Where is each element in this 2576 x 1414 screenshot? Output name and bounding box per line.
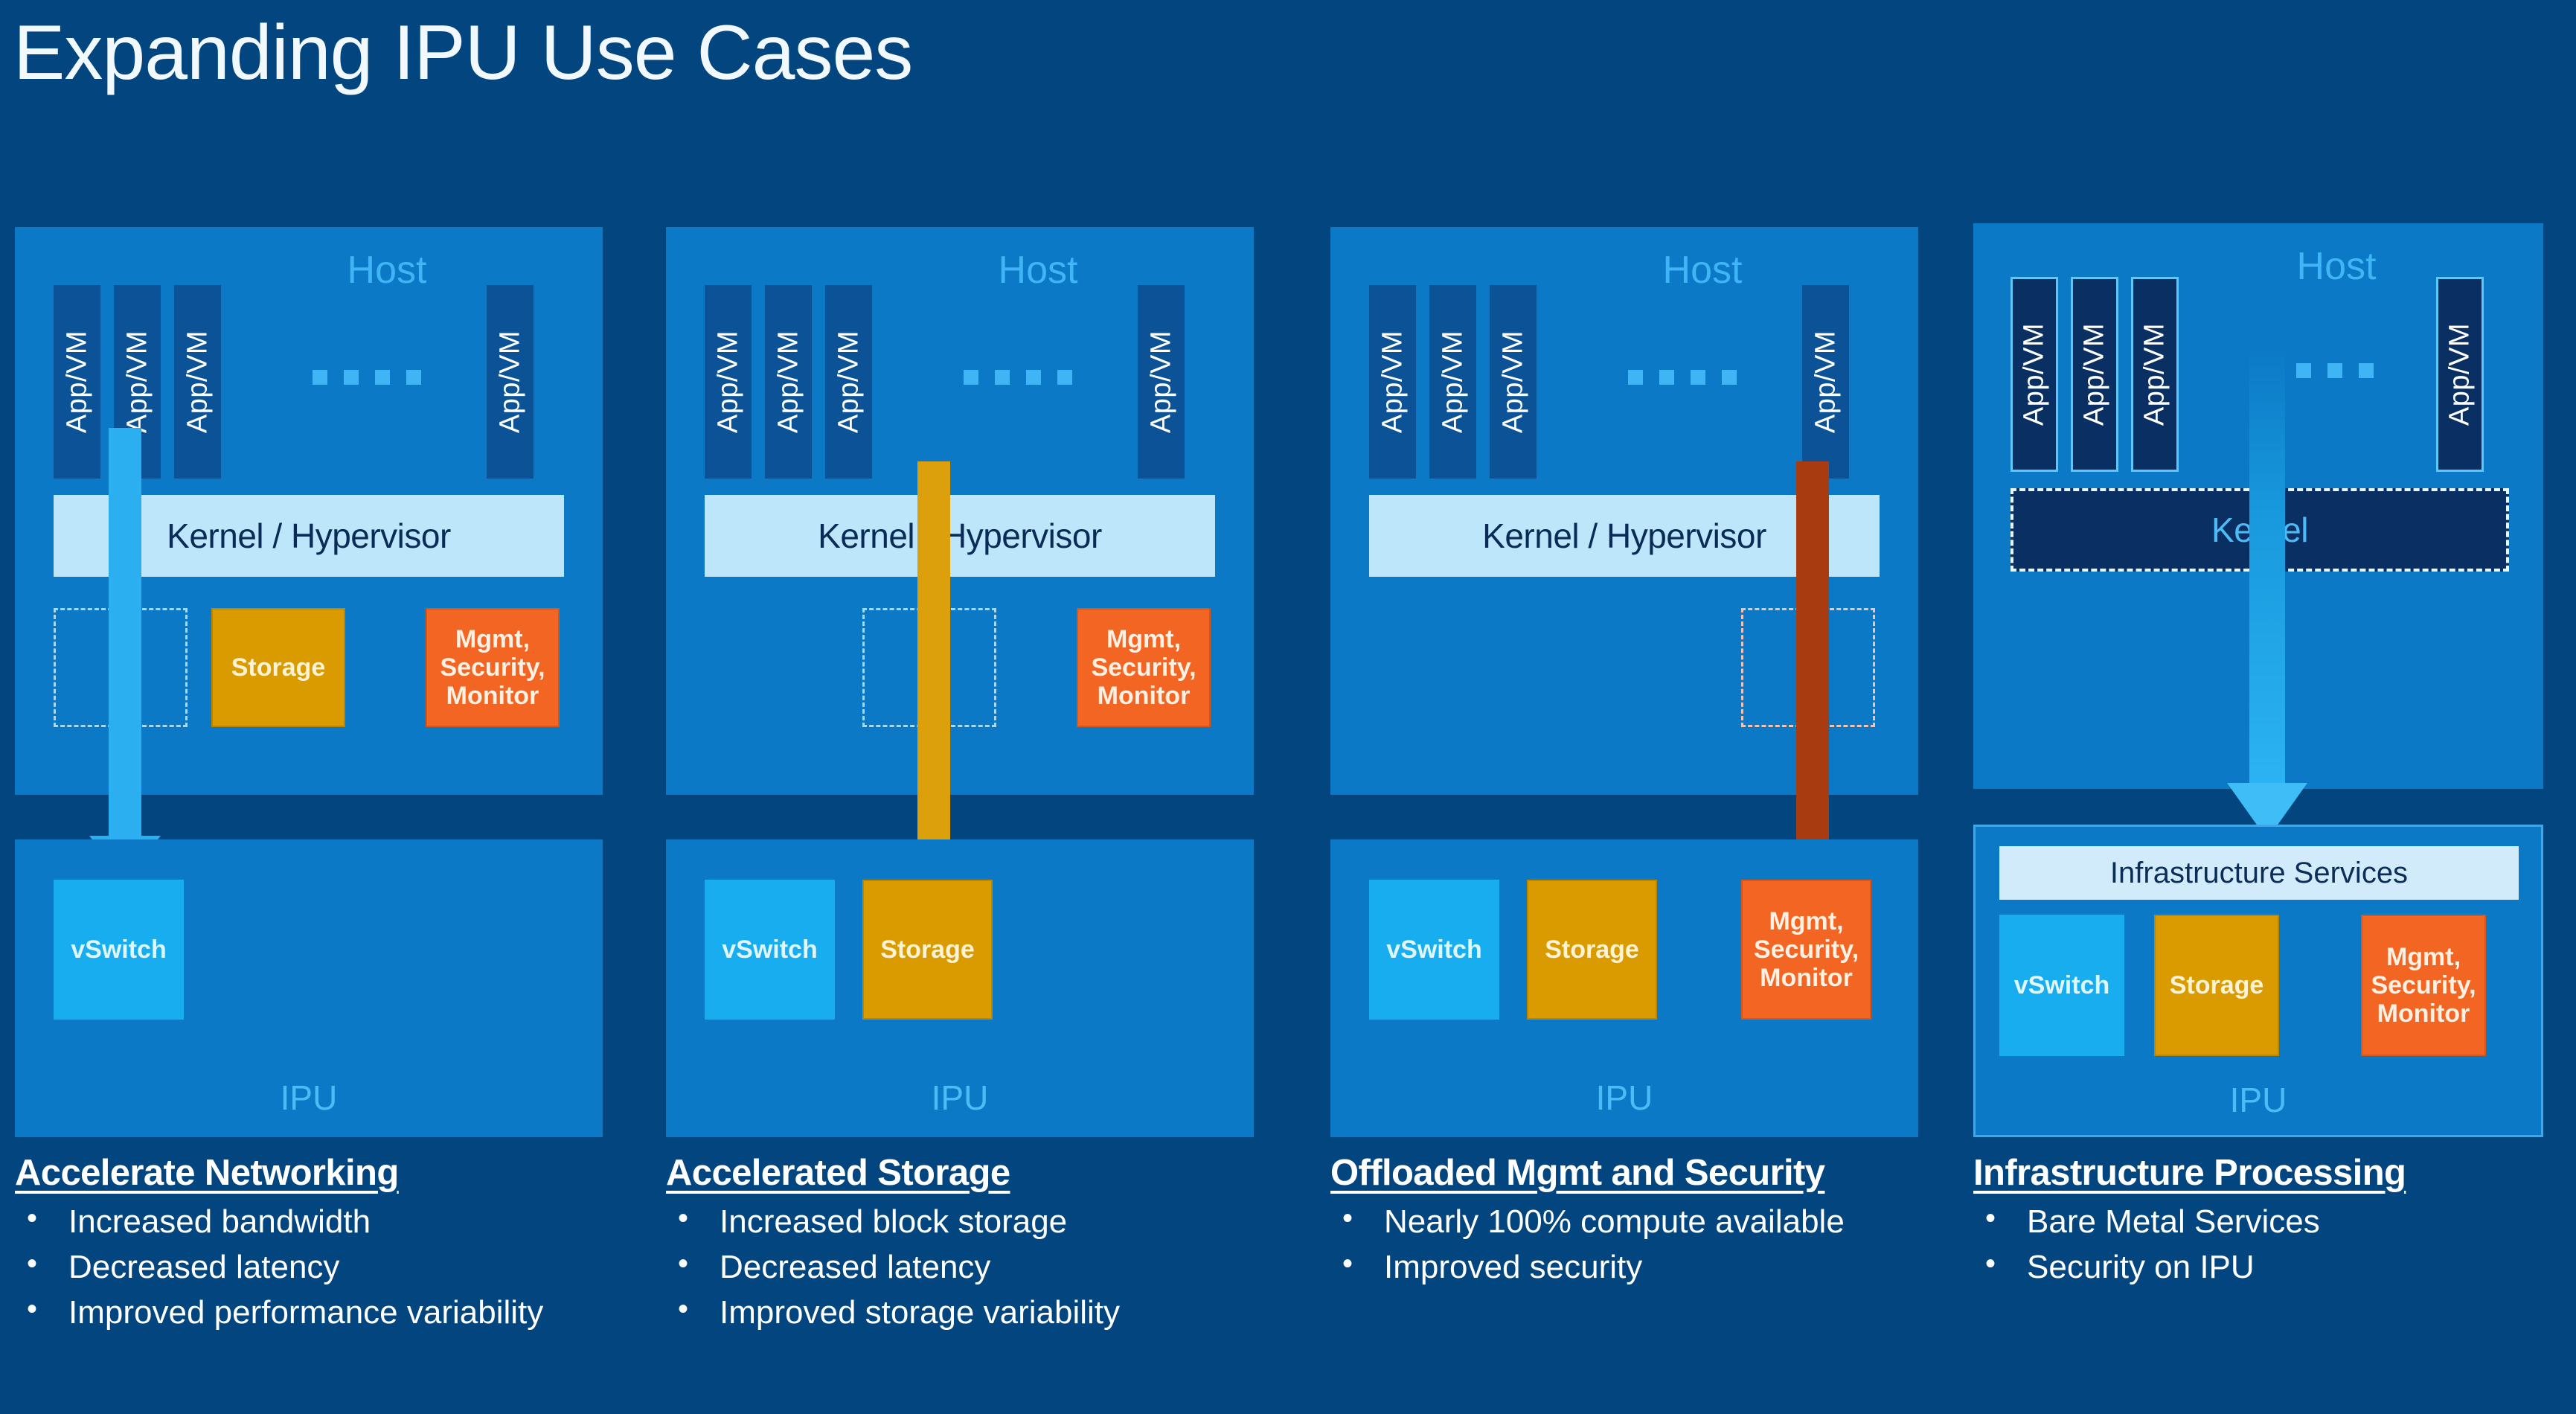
caption-bullet: Security on IPU bbox=[1973, 1248, 2561, 1286]
ipu-block-storage: Storage bbox=[1527, 880, 1657, 1020]
app-vm-label: App/VM bbox=[1145, 330, 1177, 433]
ipu-block-vswitch: vSwitch bbox=[1999, 915, 2124, 1056]
app-vm-label: App/VM bbox=[1377, 330, 1409, 433]
app-vm-label: App/VM bbox=[1437, 330, 1469, 433]
app-vm-chip: App/VM bbox=[2071, 277, 2118, 472]
app-vm-label: App/VM bbox=[833, 330, 865, 433]
caption-bullet: Improved security bbox=[1330, 1248, 1985, 1286]
caption-bullet: Decreased latency bbox=[666, 1248, 1321, 1286]
host-block-mgmt-security-monitor: Mgmt, Security, Monitor bbox=[426, 608, 560, 727]
arrow-shaft bbox=[109, 428, 141, 842]
caption-bullet-list: Increased bandwidth Decreased latency Im… bbox=[15, 1203, 670, 1331]
caption-heading: Infrastructure Processing bbox=[1973, 1152, 2561, 1194]
ipu-label: IPU bbox=[666, 1078, 1254, 1118]
caption-bullet: Increased block storage bbox=[666, 1203, 1321, 1241]
app-vm-label: App/VM bbox=[1497, 330, 1529, 433]
caption-heading: Accelerate Networking bbox=[15, 1152, 670, 1194]
app-vm-chip: App/VM bbox=[487, 285, 534, 479]
offload-arrow-infrastructure bbox=[2226, 348, 2308, 839]
app-vm-label: App/VM bbox=[61, 330, 93, 433]
arrow-shaft bbox=[1796, 461, 1829, 841]
caption-offloaded-mgmt-and-security: Offloaded Mgmt and Security Nearly 100% … bbox=[1330, 1152, 1985, 1286]
app-vm-chip: App/VM bbox=[2436, 277, 2484, 472]
app-vm-chip: App/VM bbox=[705, 285, 752, 479]
app-vm-label: App/VM bbox=[121, 330, 153, 433]
use-case-column-accelerate-networking: Host App/VM App/VM App/VM App/VM Kernel … bbox=[15, 0, 603, 1414]
ellipsis-dots-icon bbox=[1628, 370, 1737, 385]
caption-bullet: Nearly 100% compute available bbox=[1330, 1203, 1985, 1241]
ipu-label: IPU bbox=[1330, 1078, 1918, 1118]
slide-canvas: Expanding IPU Use Cases Host App/VM App/… bbox=[0, 0, 2576, 1414]
app-vm-label: App/VM bbox=[2019, 323, 2051, 426]
caption-bullet-list: Increased block storage Decreased latenc… bbox=[666, 1203, 1321, 1331]
offload-arrow-storage bbox=[898, 461, 970, 886]
app-vm-chip: App/VM bbox=[1369, 285, 1416, 479]
app-vm-label: App/VM bbox=[2079, 323, 2111, 426]
use-case-column-accelerated-storage: Host App/VM App/VM App/VM App/VM Kernel … bbox=[666, 0, 1254, 1414]
host-block-mgmt-security-monitor: Mgmt, Security, Monitor bbox=[1077, 608, 1211, 727]
ipu-block-mgmt-security-monitor: Mgmt, Security, Monitor bbox=[1741, 880, 1871, 1020]
ipu-label: IPU bbox=[15, 1078, 603, 1118]
app-vm-label: App/VM bbox=[2444, 323, 2476, 426]
caption-accelerate-networking: Accelerate Networking Increased bandwidt… bbox=[15, 1152, 670, 1331]
host-block-storage: Storage bbox=[211, 608, 345, 727]
use-case-column-offloaded-mgmt-and-security: Host App/VM App/VM App/VM App/VM Kernel … bbox=[1330, 0, 1918, 1414]
app-vm-chip: App/VM bbox=[1490, 285, 1537, 479]
caption-bullet: Bare Metal Services bbox=[1973, 1203, 2561, 1241]
infrastructure-services-bar: Infrastructure Services bbox=[1999, 846, 2519, 900]
caption-bullet: Decreased latency bbox=[15, 1248, 670, 1286]
app-vm-chip: App/VM bbox=[2011, 277, 2058, 472]
arrow-shaft bbox=[2249, 348, 2285, 783]
caption-accelerated-storage: Accelerated Storage Increased block stor… bbox=[666, 1152, 1321, 1331]
app-vm-chip: App/VM bbox=[1429, 285, 1476, 479]
ipu-panel: vSwitch IPU bbox=[15, 839, 603, 1137]
app-vm-label: App/VM bbox=[2139, 323, 2171, 426]
app-vm-chip: App/VM bbox=[765, 285, 812, 479]
ipu-panel: vSwitch Storage IPU bbox=[666, 839, 1254, 1137]
app-vm-chip: App/VM bbox=[825, 285, 872, 479]
caption-bullet: Improved storage variability bbox=[666, 1293, 1321, 1331]
caption-bullet-list: Bare Metal Services Security on IPU bbox=[1973, 1203, 2561, 1286]
caption-bullet: Increased bandwidth bbox=[15, 1203, 670, 1241]
ipu-block-vswitch: vSwitch bbox=[54, 880, 184, 1020]
caption-bullet: Improved performance variability bbox=[15, 1293, 670, 1331]
ellipsis-dots-icon bbox=[313, 370, 421, 385]
offload-arrow-networking bbox=[89, 428, 161, 882]
ellipsis-dots-icon bbox=[964, 370, 1072, 385]
caption-heading: Accelerated Storage bbox=[666, 1152, 1321, 1194]
app-vm-label: App/VM bbox=[712, 330, 744, 433]
caption-bullet-list: Nearly 100% compute available Improved s… bbox=[1330, 1203, 1985, 1286]
ipu-block-storage: Storage bbox=[862, 880, 993, 1020]
app-vm-label: App/VM bbox=[1810, 330, 1842, 433]
app-vm-chip: App/VM bbox=[2131, 277, 2179, 472]
app-vm-chip: App/VM bbox=[174, 285, 221, 479]
ipu-block-vswitch: vSwitch bbox=[1369, 880, 1499, 1020]
ipu-block-mgmt-security-monitor: Mgmt, Security, Monitor bbox=[2361, 915, 2486, 1056]
app-vm-chip: App/VM bbox=[1802, 285, 1849, 479]
app-vm-label: App/VM bbox=[772, 330, 804, 433]
caption-heading: Offloaded Mgmt and Security bbox=[1330, 1152, 1985, 1194]
app-vm-label: App/VM bbox=[494, 330, 526, 433]
ipu-panel: vSwitch Storage Mgmt, Security, Monitor … bbox=[1330, 839, 1918, 1137]
ipu-panel: Infrastructure Services vSwitch Storage … bbox=[1973, 825, 2543, 1137]
use-case-column-infrastructure-processing: Host App/VM App/VM App/VM App/VM Kernel … bbox=[1973, 0, 2543, 1414]
ipu-block-vswitch: vSwitch bbox=[705, 880, 835, 1020]
ipu-label: IPU bbox=[1976, 1080, 2541, 1120]
app-vm-label: App/VM bbox=[182, 330, 214, 433]
app-vm-chip: App/VM bbox=[1138, 285, 1185, 479]
arrow-shaft bbox=[917, 461, 950, 839]
offload-arrow-mgmt-security bbox=[1777, 461, 1848, 887]
ipu-block-storage: Storage bbox=[2154, 915, 2279, 1056]
caption-infrastructure-processing: Infrastructure Processing Bare Metal Ser… bbox=[1973, 1152, 2561, 1286]
